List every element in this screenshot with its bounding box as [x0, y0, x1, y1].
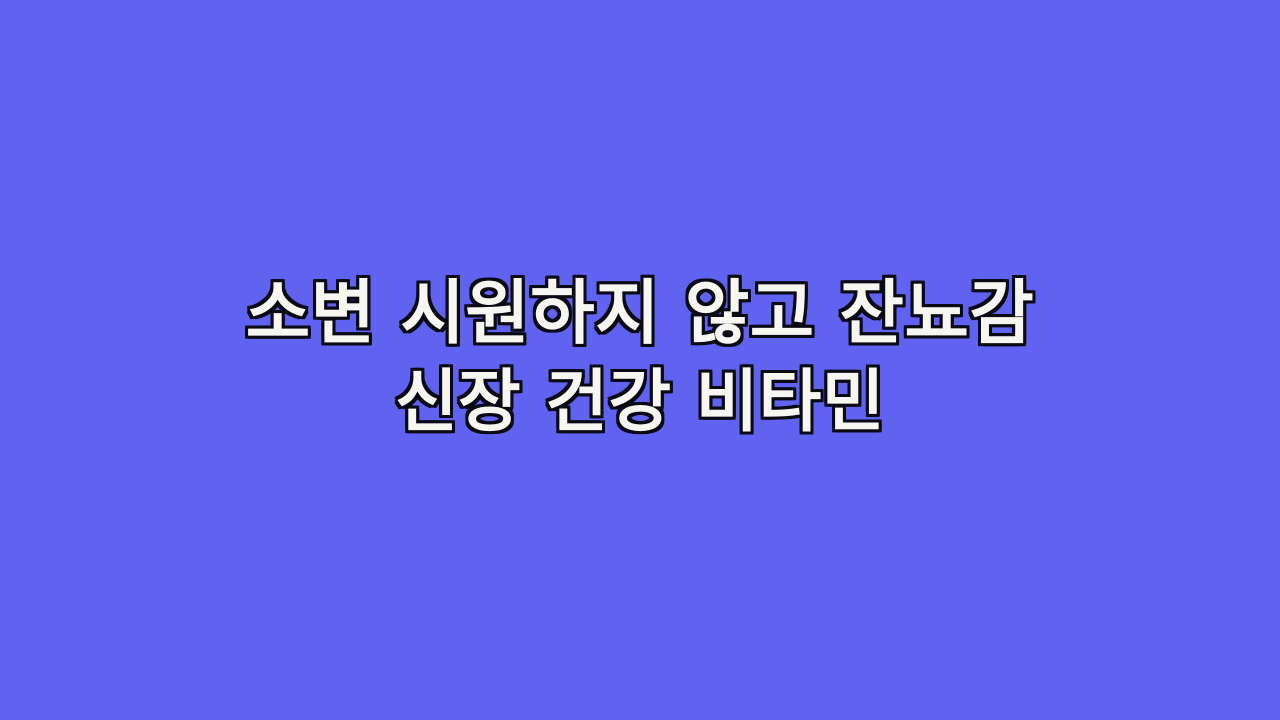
headline-line-1: 소변 시원하지 않고 잔뇨감 [246, 268, 1035, 358]
headline-line-2: 신장 건강 비타민 [395, 358, 885, 448]
headline-text-block: 소변 시원하지 않고 잔뇨감 신장 건강 비타민 [0, 268, 1280, 448]
title-card-canvas: 소변 시원하지 않고 잔뇨감 신장 건강 비타민 [0, 0, 1280, 720]
